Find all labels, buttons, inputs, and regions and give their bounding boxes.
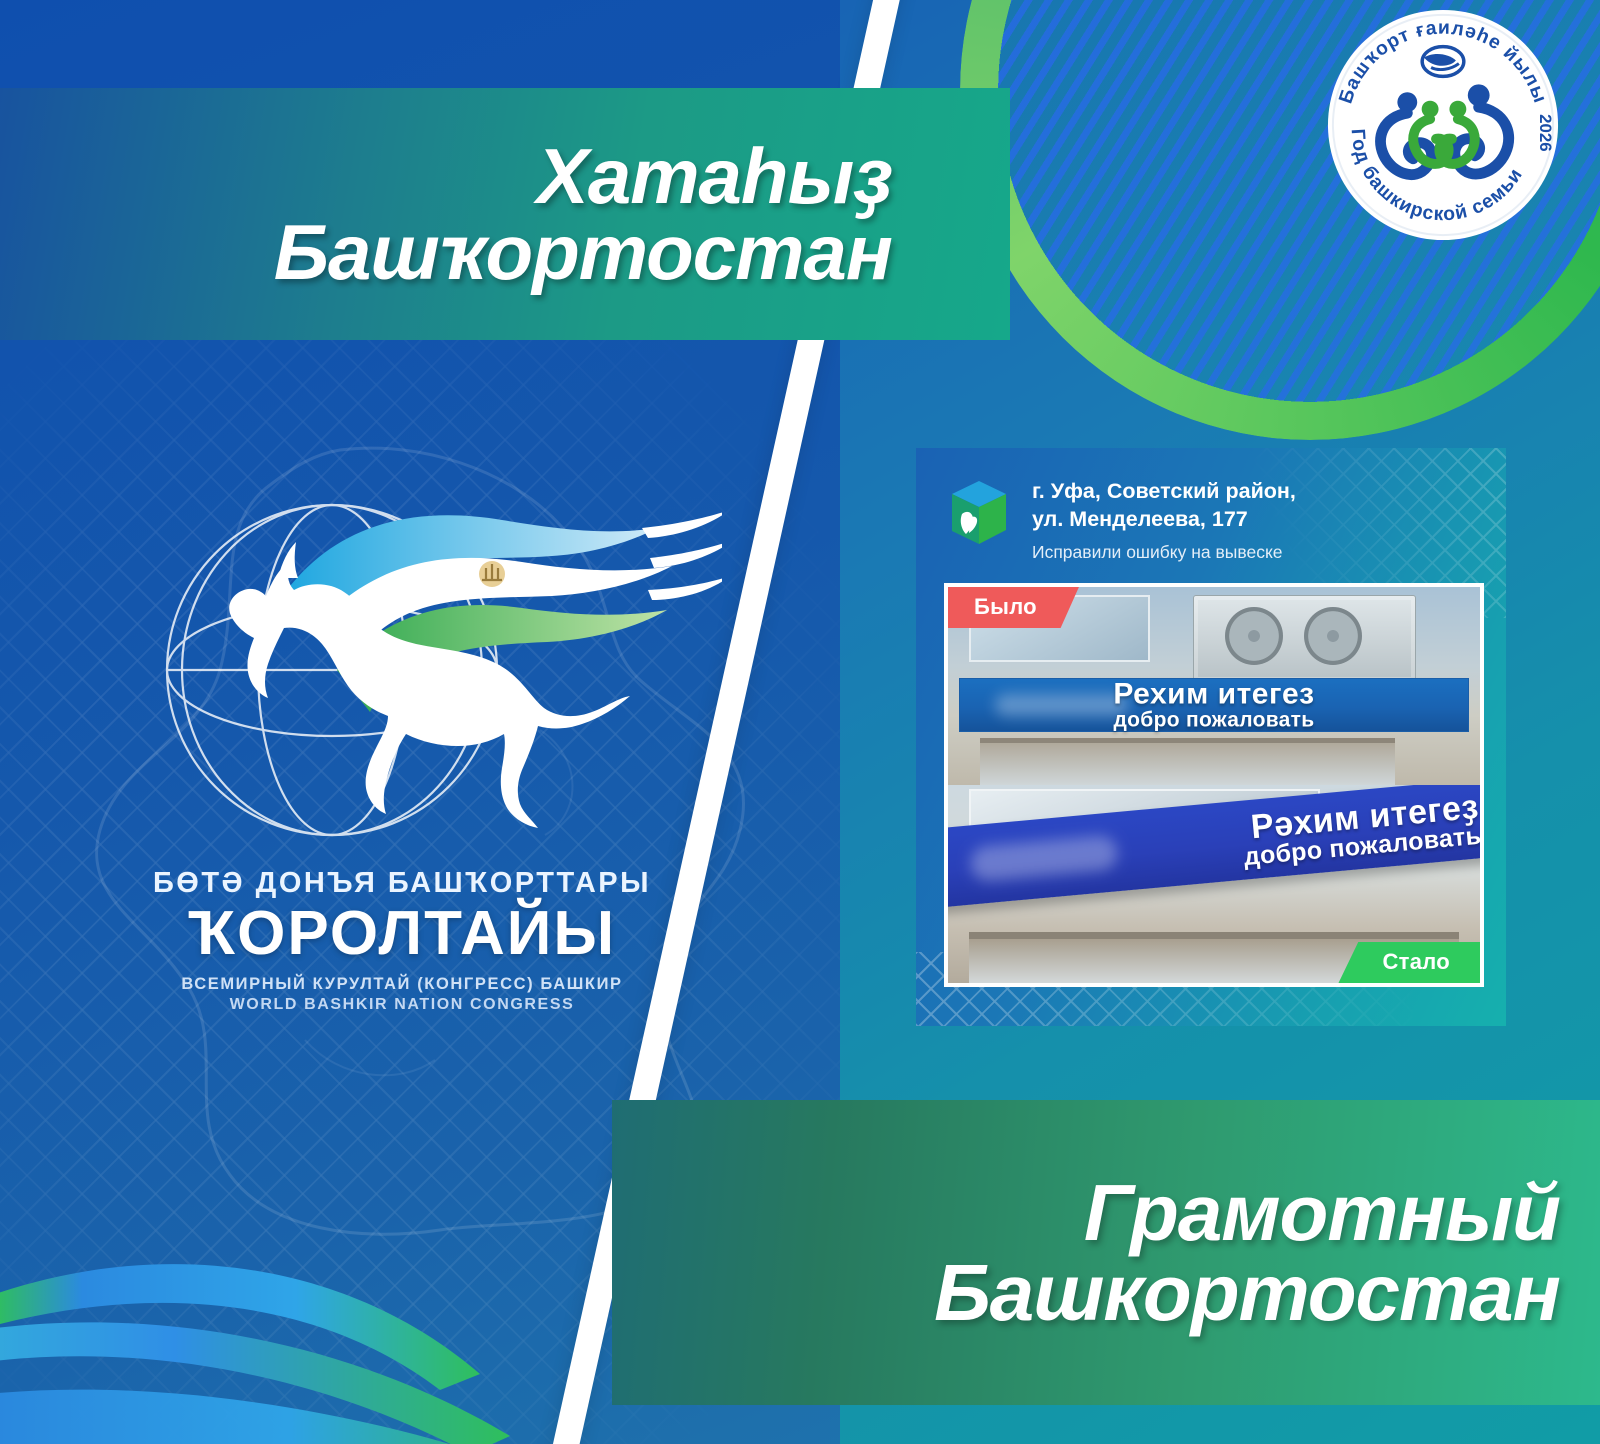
- photo-before: Рехим итегез добро пожаловать Было: [948, 587, 1480, 785]
- bottom-headline-band: Грамотный Башкортостан: [612, 1100, 1600, 1405]
- correction-card: г. Уфа, Советский район, ул. Менделеева,…: [916, 448, 1506, 1026]
- poster-canvas: Хатаһыҙ Башҡортостан Грамотный Башкортос…: [0, 0, 1600, 1444]
- card-address: г. Уфа, Советский район, ул. Менделеева,…: [1032, 478, 1296, 533]
- shop-sign-before: Рехим итегез добро пожаловать: [959, 678, 1470, 731]
- sign-bashkir-before: Рехим итегез: [960, 679, 1469, 709]
- emblem-year: 2026: [1536, 114, 1555, 151]
- kurultay-line-2: ҠОРОЛТАЙЫ: [82, 902, 722, 965]
- sign-russian-before: добро пожаловать: [960, 709, 1469, 730]
- headline-bashkir: Хатаһыҙ Башҡортостан: [274, 138, 892, 291]
- family-year-emblem: Башҡорт ғаиләһе йылы Год башкирской семь…: [1324, 6, 1562, 244]
- kurultay-line-3: ВСЕМИРНЫЙ КУРУЛТАЙ (КОНГРЕСС) БАШКИР: [82, 975, 722, 994]
- top-headline-band: Хатаһыҙ Башҡортостан: [0, 88, 1010, 340]
- bashkortostan-cube-icon: [946, 478, 1012, 548]
- card-subtitle: Исправили ошибку на вывеске: [1032, 542, 1296, 563]
- card-header: г. Уфа, Советский район, ул. Менделеева,…: [916, 448, 1506, 577]
- kurultay-logo-block: БӨТӘ ДОНЪЯ БАШҠОРТТАРЫ ҠОРОЛТАЙЫ ВСЕМИРН…: [82, 470, 722, 1050]
- photo-after: Рәхим итегеҙ добро пожаловать Стало: [948, 785, 1480, 983]
- storefront-before: [980, 738, 1395, 786]
- ac-fan-2: [1304, 607, 1362, 665]
- headline-russian: Грамотный Башкортостан: [934, 1173, 1560, 1333]
- ac-fan-1: [1225, 607, 1283, 665]
- badge-before: Было: [948, 587, 1079, 628]
- sign-text-before: Рехим итегез добро пожаловать: [960, 679, 1469, 730]
- badge-after: Стало: [1338, 942, 1480, 983]
- kurultay-line-1: БӨТӘ ДОНЪЯ БАШҠОРТТАРЫ: [82, 867, 722, 900]
- kurultay-horse-mark: [82, 470, 722, 850]
- kurultay-line-4: WORLD BASHKIR NATION CONGRESS: [82, 996, 722, 1014]
- before-after-photos: Рехим итегез добро пожаловать Было Рәхим…: [944, 583, 1484, 987]
